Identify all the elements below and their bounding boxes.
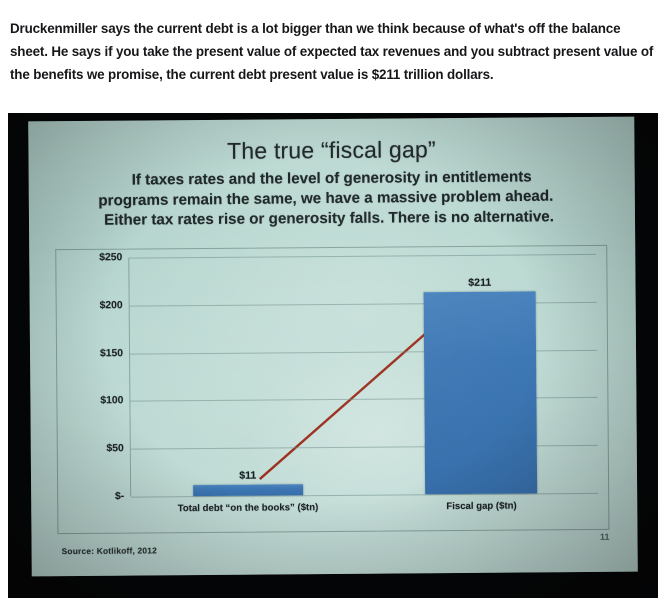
chart-gridline <box>129 254 596 259</box>
chart-bar <box>193 485 303 496</box>
y-axis-tick-label: $- <box>115 491 124 502</box>
y-axis-tick-label: $150 <box>100 348 123 359</box>
chart-bar <box>424 292 538 495</box>
projected-slide: The true “fiscal gap” If taxes rates and… <box>28 117 638 577</box>
y-axis-tick-label: $100 <box>100 396 123 407</box>
slide-source-note: Source: Kotlikoff, 2012 <box>62 545 157 556</box>
slide-photo: The true “fiscal gap” If taxes rates and… <box>8 113 658 598</box>
x-axis-category-label: Fiscal gap ($tn) <box>446 501 516 513</box>
article-page: Druckenmiller says the current debt is a… <box>0 0 666 605</box>
bar-chart: $-$50$100$150$200$250$11Total debt “on t… <box>55 245 609 534</box>
chart-plot-area: $-$50$100$150$200$250$11Total debt “on t… <box>128 254 598 497</box>
slide-title: The true “fiscal gap” <box>28 135 634 167</box>
y-axis-tick-label: $250 <box>99 252 122 263</box>
y-axis-tick-label: $200 <box>100 300 123 311</box>
article-paragraph: Druckenmiller says the current debt is a… <box>10 17 658 86</box>
y-axis-tick-label: $50 <box>106 443 123 454</box>
x-axis-category-label: Total debt “on the books” ($tn) <box>178 502 319 514</box>
slide-subtitle: If taxes rates and the level of generosi… <box>53 167 611 232</box>
bar-value-label: $11 <box>239 470 256 482</box>
bar-value-label: $211 <box>468 277 491 289</box>
slide-page-number: 11 <box>600 532 610 542</box>
